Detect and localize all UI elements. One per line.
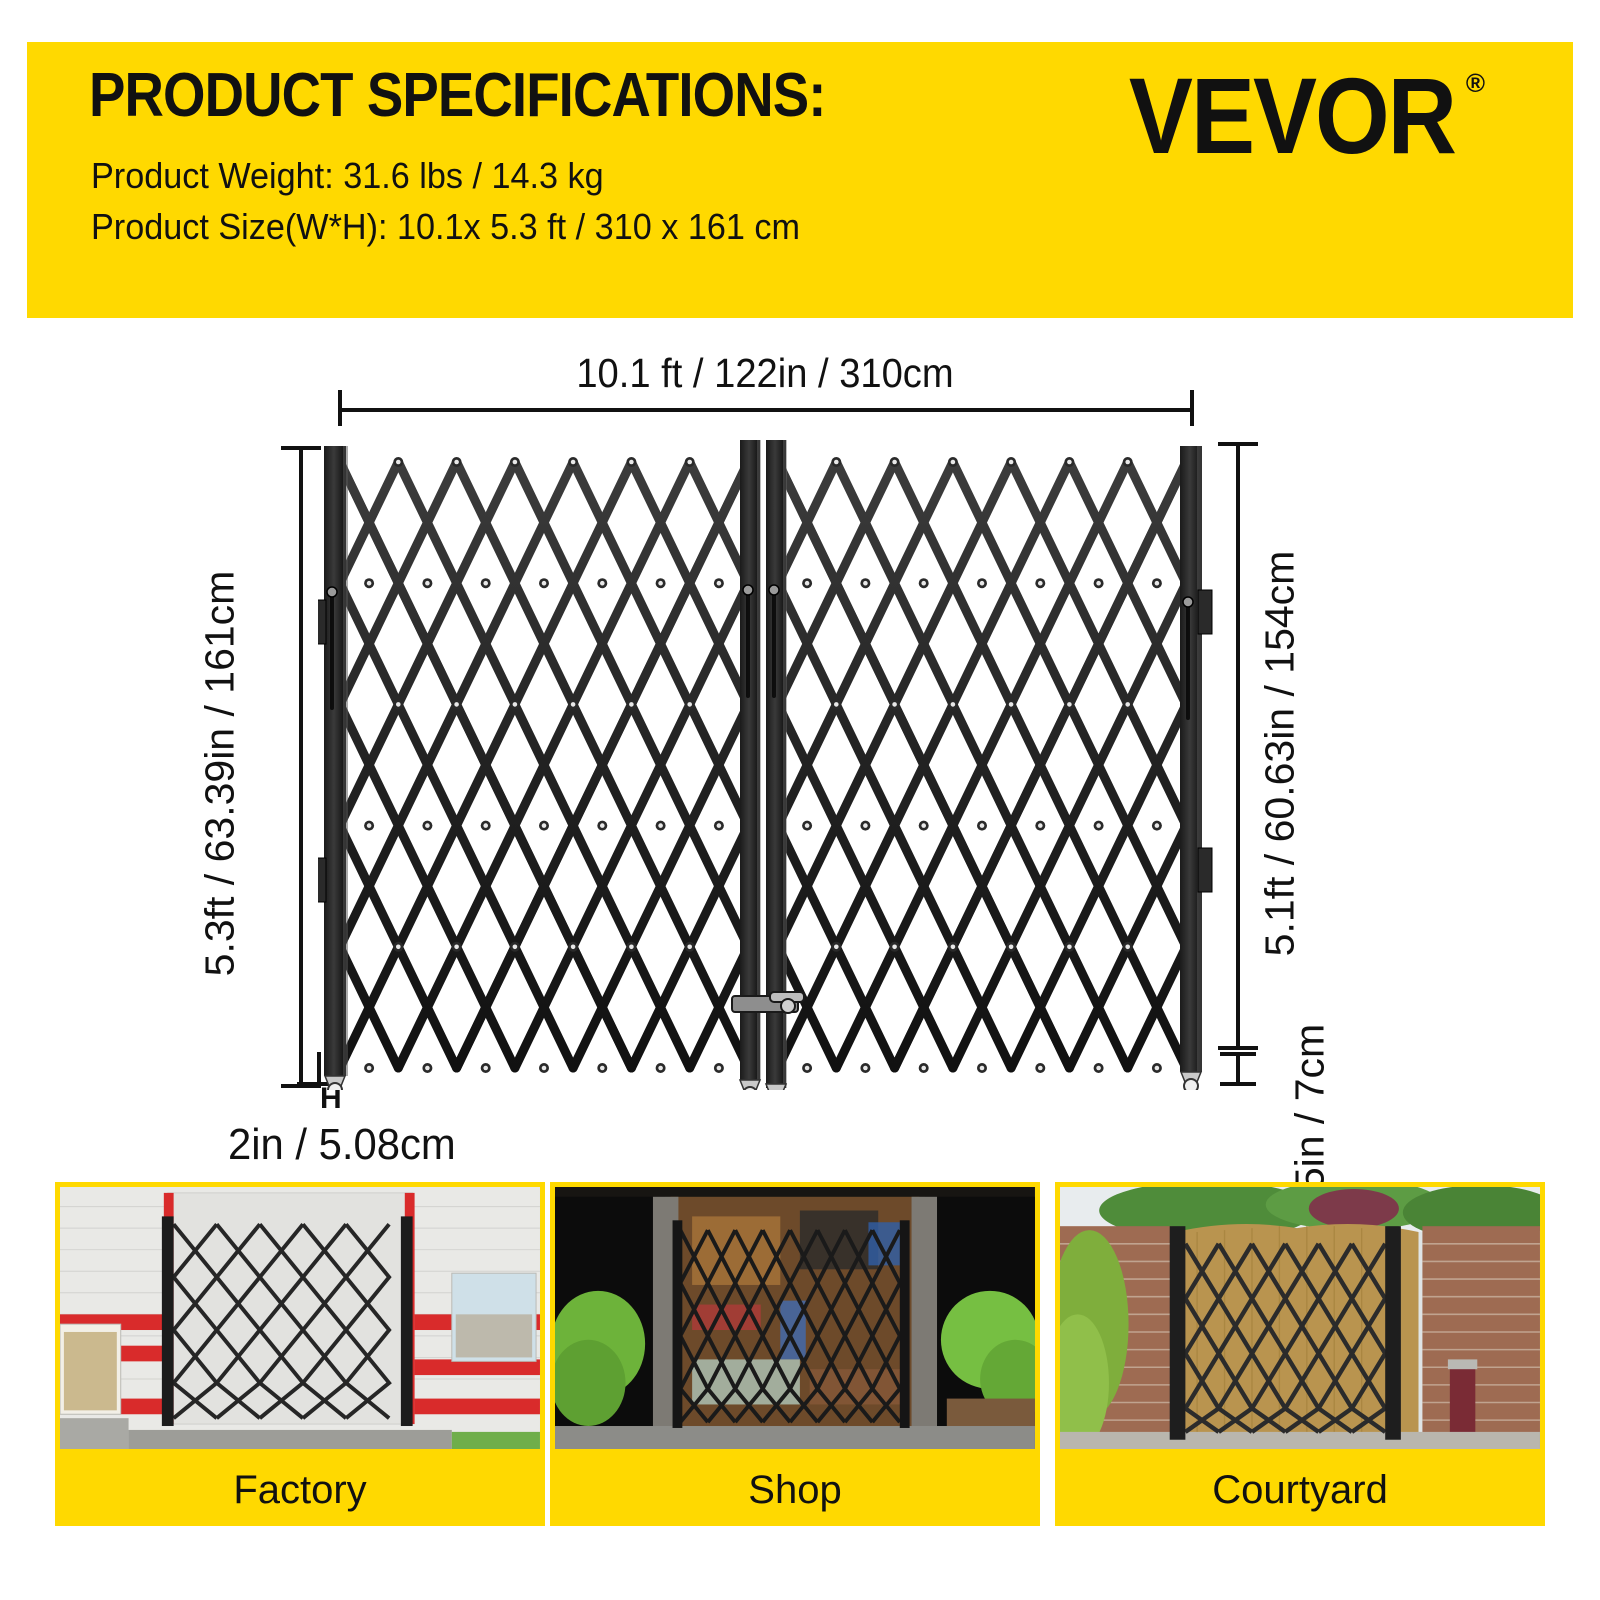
width-dimension-line (338, 408, 1194, 412)
scenario-photo-shop (550, 1182, 1040, 1454)
post-thickness-label: 2in / 5.08cm (228, 1120, 456, 1170)
registered-trademark-icon: ® (1466, 68, 1485, 99)
product-dimension-diagram: 10.1 ft / 122in / 310cm 5.3ft / 63.39in … (0, 330, 1600, 1170)
ground-clearance-tick-top (1220, 1052, 1256, 1056)
gate-latch (732, 992, 804, 1013)
gate-post-center-right (766, 440, 787, 1088)
vevor-logo: VEVOR (1129, 55, 1455, 178)
header-band: PRODUCT SPECIFICATIONS: Product Weight: … (27, 42, 1573, 318)
width-tick-right (1190, 390, 1194, 426)
gate-lattice-left-leaf (335, 457, 753, 1073)
left-height-dimension-label: 5.3ft / 63.39in / 161cm (197, 494, 244, 1054)
ground-clearance-tick-bottom (1220, 1082, 1256, 1086)
width-dimension-label: 10.1 ft / 122in / 310cm (360, 350, 1169, 397)
spec-weight: Product Weight: 31.6 lbs / 14.3 kg (91, 150, 800, 201)
scenario-card-courtyard: Courtyard (1055, 1182, 1545, 1526)
scenario-caption-factory: Factory (55, 1454, 545, 1526)
application-scenarios: Factory (0, 1182, 1600, 1562)
gate-post-right (1180, 446, 1212, 1072)
ground-clearance-dimension-line (1236, 1052, 1240, 1086)
folding-gate-illustration (318, 440, 1218, 1090)
scenario-card-shop: Shop (550, 1182, 1040, 1526)
scenario-card-factory: Factory (55, 1182, 545, 1526)
scenario-caption-courtyard: Courtyard (1055, 1454, 1545, 1526)
gate-post-center-left (740, 440, 761, 1080)
scenario-photo-factory (55, 1182, 545, 1454)
left-height-dimension-line (299, 446, 303, 1088)
gate-post-left (318, 446, 348, 1076)
gate-casters (325, 1072, 1201, 1090)
width-tick-left (338, 390, 342, 426)
right-height-tick-bottom (1218, 1046, 1258, 1050)
scenario-photo-courtyard (1055, 1182, 1545, 1454)
right-height-dimension-line (1236, 442, 1240, 1050)
scenario-caption-shop: Shop (550, 1454, 1040, 1526)
right-height-dimension-label: 5.1ft / 60.63in / 154cm (1257, 484, 1304, 1024)
left-height-tick-top (281, 446, 321, 450)
right-height-tick-top (1218, 442, 1258, 446)
spec-size: Product Size(W*H): 10.1x 5.3 ft / 310 x … (91, 201, 800, 252)
spec-list: Product Weight: 31.6 lbs / 14.3 kg Produ… (91, 150, 837, 252)
gate-lattice-right-leaf (773, 457, 1191, 1073)
page-title: PRODUCT SPECIFICATIONS: (89, 60, 826, 131)
